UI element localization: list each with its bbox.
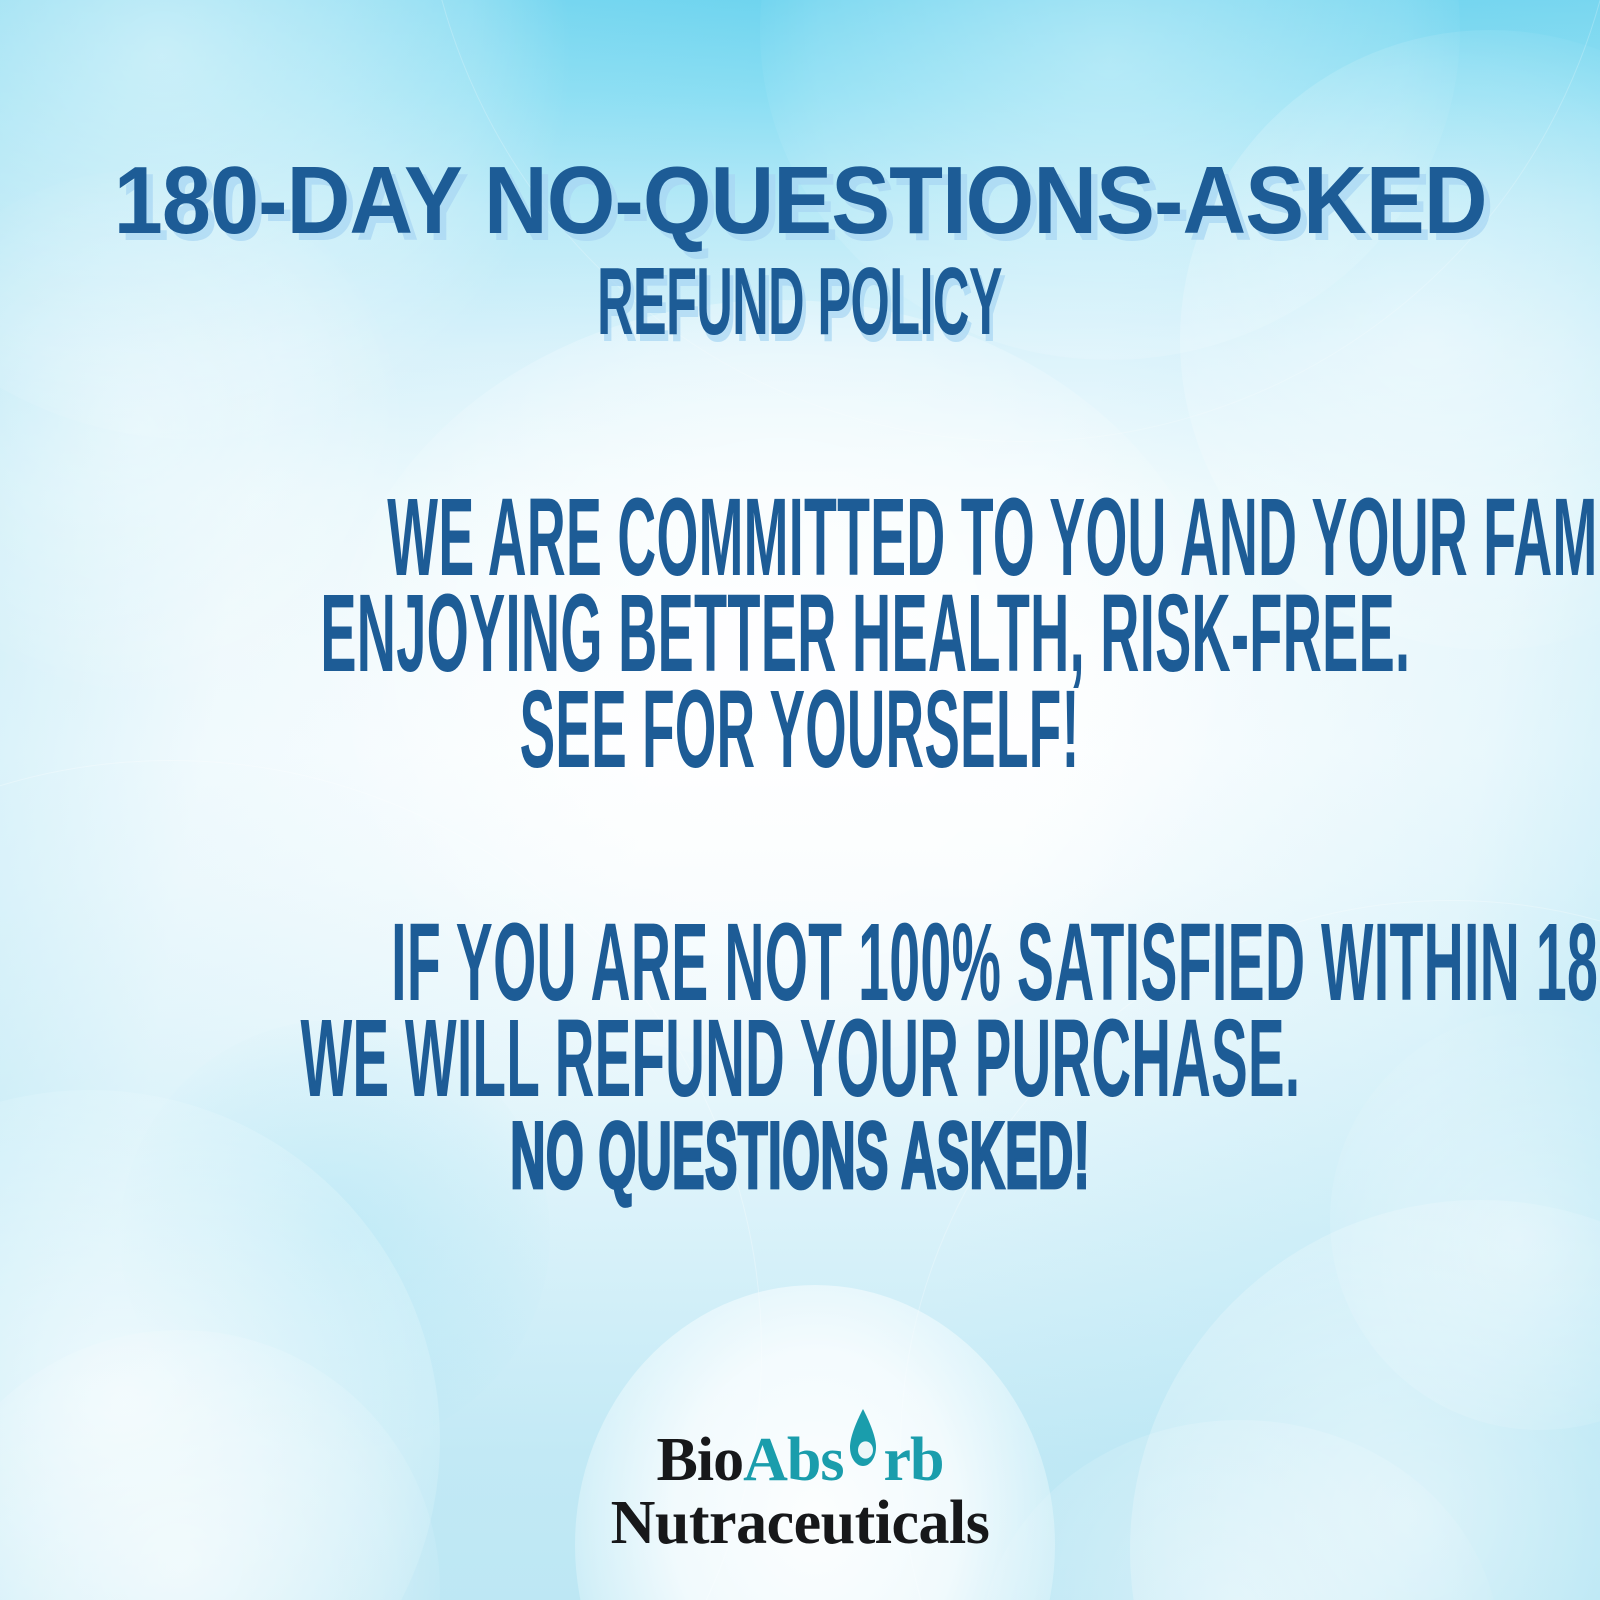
logo-wordmark: BioAbs rb	[0, 1418, 1600, 1493]
water-drop-icon	[843, 1418, 883, 1480]
commitment-paragraph: WE ARE COMMITTED TO YOU AND YOUR FAMILY …	[0, 490, 1600, 778]
headline-line-1: 180-DAY NO-QUESTIONS-ASKED	[114, 150, 1487, 251]
brand-logo: BioAbs rb Nutraceuticals	[0, 1418, 1600, 1555]
guarantee-paragraph: IF YOU ARE NOT 100% SATISFIED WITHIN 180…	[0, 915, 1600, 1203]
body-line: SEE FOR YOURSELF!	[0, 682, 1600, 778]
body-line: WE WILL REFUND YOUR PURCHASE.	[0, 1011, 1600, 1107]
headline-line-2: REFUND POLICY	[598, 251, 1003, 352]
logo-word-abs: Abs	[743, 1426, 843, 1494]
logo-word-rb: rb	[883, 1426, 943, 1494]
emphasis-line: NO QUESTIONS ASKED!	[0, 1107, 1600, 1203]
logo-word-bio: Bio	[657, 1426, 744, 1494]
page-title: 180-DAY NO-QUESTIONS-ASKED REFUND POLICY	[0, 150, 1600, 352]
refund-policy-graphic: 180-DAY NO-QUESTIONS-ASKED REFUND POLICY…	[0, 0, 1600, 1600]
logo-tagline: Nutraceuticals	[0, 1491, 1600, 1555]
